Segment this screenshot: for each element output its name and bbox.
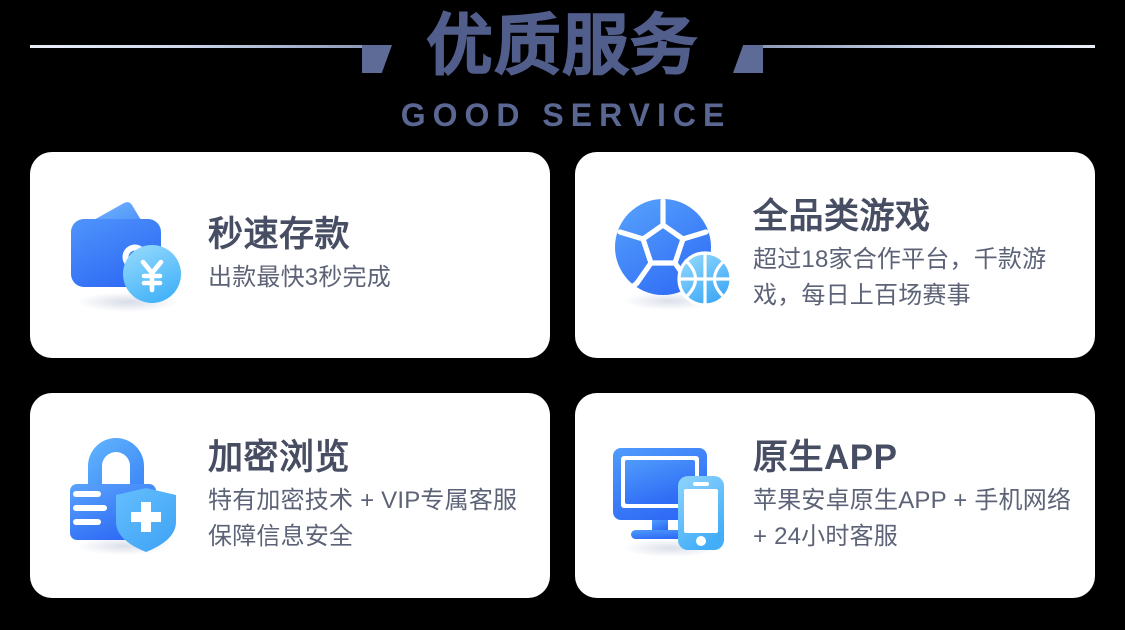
feature-card-title: 秒速存款 xyxy=(208,214,534,256)
page-title: 优质服务 xyxy=(0,8,1125,84)
feature-card-title: 全品类游戏 xyxy=(753,196,1079,238)
feature-card-text: 原生APP 苹果安卓原生APP + 手机网络 + 24小时客服 xyxy=(739,437,1095,555)
feature-card-desc: 特有加密技术 + VIP专属客服保障信息安全 xyxy=(208,483,534,555)
feature-card-text: 秒速存款 出款最快3秒完成 xyxy=(194,214,550,296)
feature-card-games[interactable]: 全品类游戏 超过18家合作平台，千款游戏，每日上百场赛事 xyxy=(575,152,1095,358)
feature-card-deposit[interactable]: 秒速存款 出款最快3秒完成 xyxy=(30,152,550,358)
feature-card-title: 加密浏览 xyxy=(208,437,534,479)
lock-shield-icon xyxy=(62,430,194,562)
feature-card-encryption[interactable]: 加密浏览 特有加密技术 + VIP专属客服保障信息安全 xyxy=(30,393,550,598)
monitor-phone-icon xyxy=(607,430,739,562)
page-subtitle: GOOD SERVICE xyxy=(0,96,1125,134)
header-banner: 优质服务 GOOD SERVICE xyxy=(0,0,1125,148)
feature-card-title: 原生APP xyxy=(753,437,1079,479)
feature-card-grid: 秒速存款 出款最快3秒完成 xyxy=(30,152,1095,598)
feature-card-native-app[interactable]: 原生APP 苹果安卓原生APP + 手机网络 + 24小时客服 xyxy=(575,393,1095,598)
feature-card-desc: 超过18家合作平台，千款游戏，每日上百场赛事 xyxy=(753,242,1079,314)
feature-card-desc: 出款最快3秒完成 xyxy=(208,260,534,296)
feature-card-desc: 苹果安卓原生APP + 手机网络 + 24小时客服 xyxy=(753,483,1079,555)
soccer-basketball-icon xyxy=(607,189,739,321)
wallet-yen-icon xyxy=(62,189,194,321)
feature-card-text: 加密浏览 特有加密技术 + VIP专属客服保障信息安全 xyxy=(194,437,550,555)
feature-card-text: 全品类游戏 超过18家合作平台，千款游戏，每日上百场赛事 xyxy=(739,196,1095,314)
